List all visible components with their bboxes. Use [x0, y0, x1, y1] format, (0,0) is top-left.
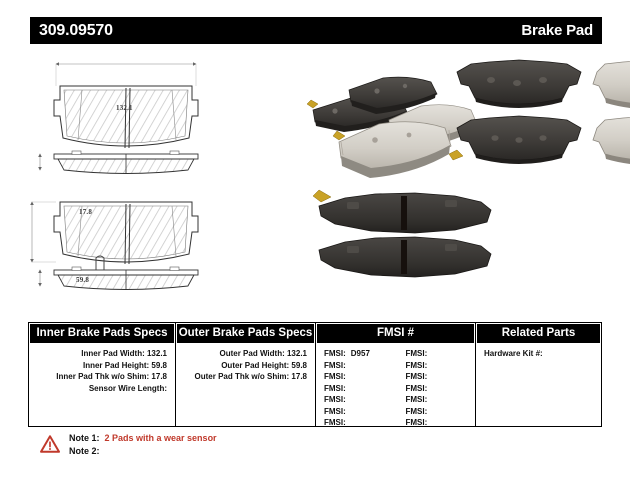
dimension-label-width: 132.1 — [116, 104, 133, 112]
fmsi-row: FMSI: — [324, 406, 396, 418]
part-number: 309.09570 — [39, 22, 113, 40]
fmsi-subcolumn-one: FMSI:D957 FMSI: FMSI: FMSI: FMSI: FMSI: … — [316, 348, 396, 429]
brake-pad-drawing-svg — [0, 50, 310, 310]
fmsi-value — [427, 349, 432, 358]
fmsi-value — [346, 418, 351, 427]
note-1-value: 2 Pads with a wear sensor — [100, 433, 217, 443]
fmsi-row: FMSI:D957 — [324, 348, 396, 360]
fmsi-row: FMSI: — [406, 348, 476, 360]
note-2-label: Note 2: — [69, 446, 100, 456]
fmsi-value — [346, 395, 351, 404]
brake-pad-photo-svg — [305, 50, 630, 300]
spec-row: Inner Pad Height: 59.8 — [29, 360, 175, 372]
fmsi-label: FMSI: — [324, 418, 346, 427]
technical-drawings: 132.1 17.8 59.8 17.8 — [0, 50, 310, 310]
spec-row: Inner Pad Thk w/o Shim: 17.8 — [29, 371, 175, 383]
product-category: Brake Pad — [521, 22, 593, 39]
dimension-label-height: 59.8 — [76, 276, 89, 284]
fmsi-column: FMSI # FMSI:D957 FMSI: FMSI: FMSI: FMSI:… — [315, 323, 475, 426]
fmsi-row: FMSI: — [406, 406, 476, 418]
fmsi-label: FMSI: — [406, 372, 428, 381]
related-parts-header: Related Parts — [477, 324, 600, 343]
fmsi-label: FMSI: — [406, 361, 428, 370]
inner-specs-header: Inner Brake Pads Specs — [30, 324, 174, 343]
photo-angled-group — [307, 77, 477, 178]
fmsi-value — [346, 384, 351, 393]
photo-edge-pair — [313, 190, 491, 277]
fmsi-row: FMSI: — [406, 417, 476, 429]
fmsi-row: FMSI: — [406, 394, 476, 406]
fmsi-label: FMSI: — [324, 361, 346, 370]
fmsi-value — [427, 407, 432, 416]
fmsi-value: D957 — [346, 349, 370, 358]
related-parts-column: Related Parts Hardware Kit #: — [475, 323, 601, 426]
fmsi-label: FMSI: — [324, 395, 346, 404]
fmsi-value — [427, 384, 432, 393]
outer-specs-header: Outer Brake Pads Specs — [177, 324, 314, 343]
fmsi-row: FMSI: — [324, 394, 396, 406]
fmsi-header: FMSI # — [317, 324, 474, 343]
fmsi-row: FMSI: — [406, 371, 476, 383]
fmsi-row: FMSI: — [324, 360, 396, 372]
fmsi-subcolumn-two: FMSI: FMSI: FMSI: FMSI: FMSI: FMSI: FMSI… — [396, 348, 476, 429]
specifications-table: Inner Brake Pads Specs Inner Pad Width: … — [28, 322, 602, 427]
fmsi-label: FMSI: — [406, 384, 428, 393]
fmsi-label: FMSI: — [324, 407, 346, 416]
fmsi-value — [427, 418, 432, 427]
note-row-2: Note 2: — [69, 445, 217, 458]
fmsi-value — [346, 372, 351, 381]
spec-row: Inner Pad Width: 132.1 — [29, 348, 175, 360]
related-parts-row: Hardware Kit #: — [476, 348, 601, 360]
fmsi-body: FMSI:D957 FMSI: FMSI: FMSI: FMSI: FMSI: … — [316, 344, 475, 429]
fmsi-label: FMSI: — [324, 372, 346, 381]
spec-row: Outer Pad Width: 132.1 — [176, 348, 315, 360]
note-1-label: Note 1: — [69, 433, 100, 443]
product-photos — [305, 50, 630, 300]
fmsi-value — [427, 361, 432, 370]
fmsi-label: FMSI: — [324, 349, 346, 358]
fmsi-row: FMSI: — [324, 371, 396, 383]
notes-text-block: Note 1:2 Pads with a wear sensor Note 2: — [69, 432, 217, 458]
note-row-1: Note 1:2 Pads with a wear sensor — [69, 432, 217, 445]
fmsi-label: FMSI: — [406, 349, 428, 358]
spec-row: Outer Pad Height: 59.8 — [176, 360, 315, 372]
fmsi-row: FMSI: — [406, 360, 476, 372]
fmsi-value — [346, 361, 351, 370]
fmsi-row: FMSI: — [406, 383, 476, 395]
fmsi-label: FMSI: — [324, 384, 346, 393]
fmsi-label: FMSI: — [406, 407, 428, 416]
note-2-value — [100, 446, 105, 456]
fmsi-value — [346, 407, 351, 416]
photo-flat-group — [449, 60, 630, 165]
fmsi-label: FMSI: — [406, 418, 428, 427]
outer-specs-body: Outer Pad Width: 132.1 Outer Pad Height:… — [176, 344, 315, 383]
outer-specs-column: Outer Brake Pads Specs Outer Pad Width: … — [175, 323, 315, 426]
title-bar: 309.09570 Brake Pad — [30, 17, 602, 44]
inner-specs-column: Inner Brake Pads Specs Inner Pad Width: … — [29, 323, 175, 426]
fmsi-value — [427, 395, 432, 404]
fmsi-value — [427, 372, 432, 381]
notes-section: Note 1:2 Pads with a wear sensor Note 2: — [40, 432, 217, 458]
fmsi-label: FMSI: — [406, 395, 428, 404]
warning-triangle-icon — [40, 435, 60, 453]
inner-specs-body: Inner Pad Width: 132.1 Inner Pad Height:… — [29, 344, 175, 394]
related-parts-body: Hardware Kit #: — [476, 344, 601, 360]
dimension-label-front-thickness: 17.8 — [79, 208, 92, 216]
fmsi-row: FMSI: — [324, 417, 396, 429]
spec-row: Sensor Wire Length: — [29, 383, 175, 395]
fmsi-row: FMSI: — [324, 383, 396, 395]
spec-row: Outer Pad Thk w/o Shim: 17.8 — [176, 371, 315, 383]
